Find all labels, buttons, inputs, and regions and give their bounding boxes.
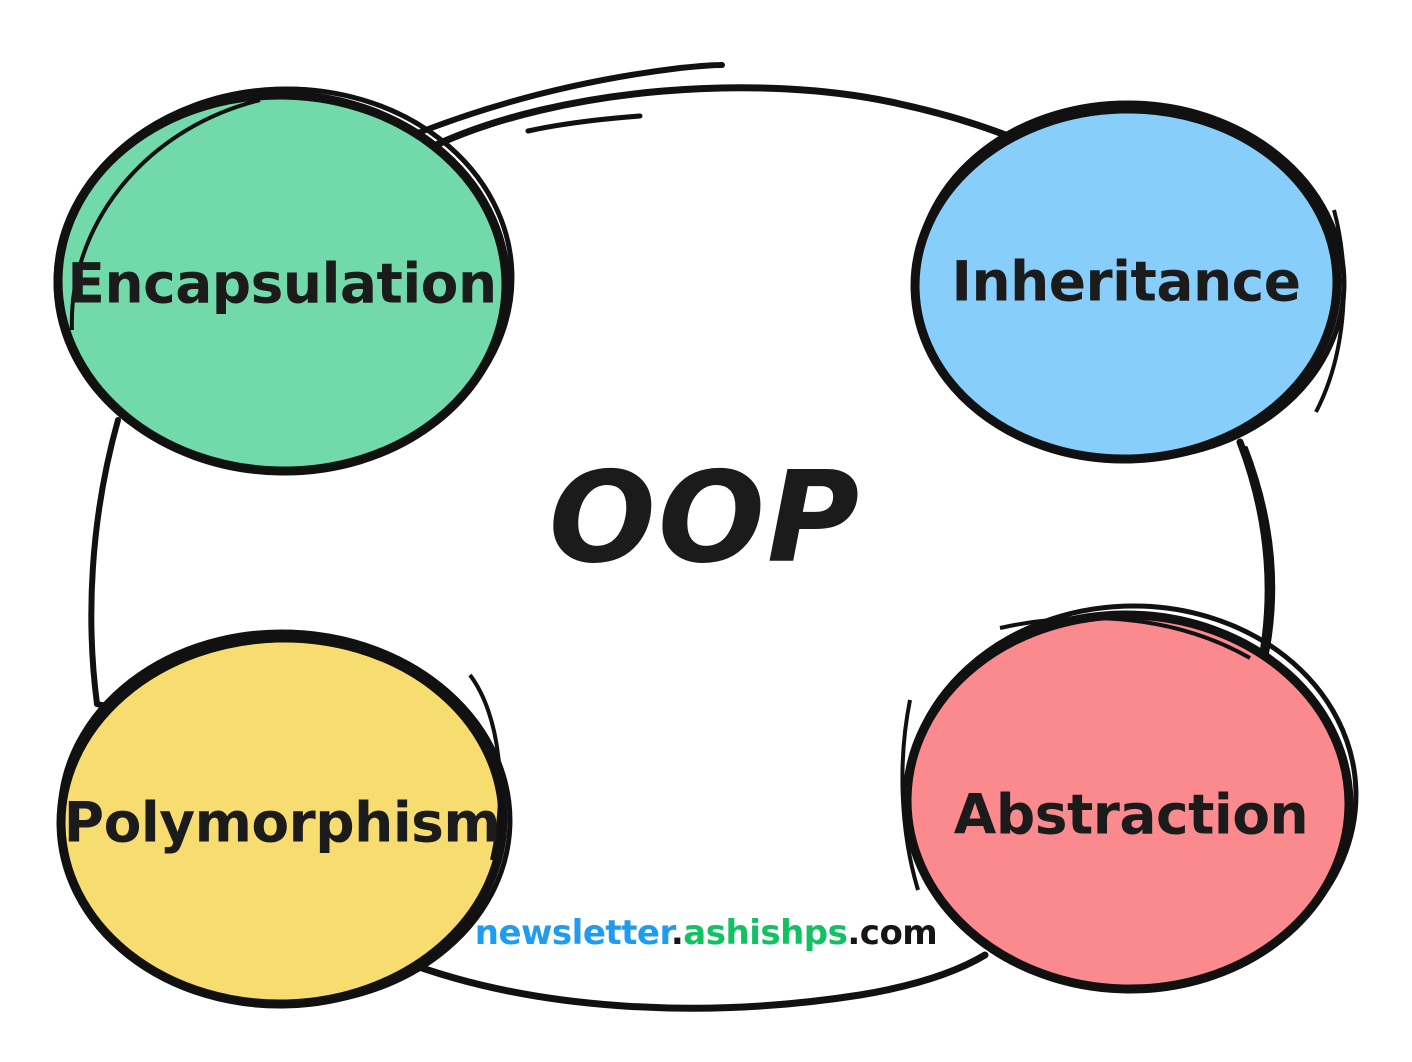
node-encapsulation-shape — [53, 89, 511, 477]
center-title-oop: OOP — [549, 455, 862, 581]
watermark-dot-2: . — [847, 913, 859, 953]
node-polymorphism-shape — [56, 632, 507, 1009]
arc-bottom-main — [400, 955, 985, 1008]
arc-left-main — [91, 420, 118, 704]
oop-diagram: Encapsulation Inheritance Polymorphism A… — [0, 0, 1412, 1062]
node-polymorphism[interactable] — [54, 624, 517, 1011]
node-abstraction[interactable] — [899, 598, 1362, 995]
watermark-newsletter: newsletter — [475, 913, 671, 953]
watermark-ashishps: ashishps — [683, 913, 847, 953]
watermark-url: newsletter.ashishps.com — [475, 916, 937, 950]
watermark-com: com — [860, 913, 937, 953]
watermark-dot-1: . — [671, 913, 683, 953]
node-abstraction-shape — [902, 609, 1354, 994]
arc-top-tick — [528, 116, 640, 131]
node-inheritance[interactable] — [910, 96, 1350, 467]
node-inheritance-shape — [910, 104, 1341, 465]
